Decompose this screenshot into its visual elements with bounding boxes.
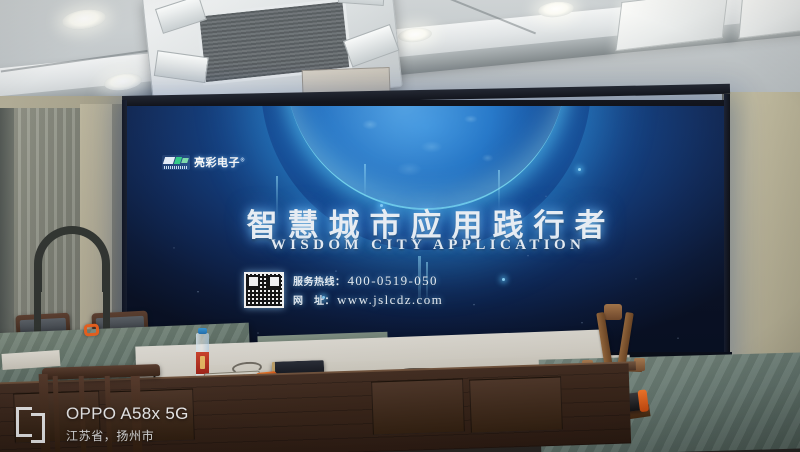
screen-headline-en: WISDOM CITY APPLICATION (126, 237, 726, 254)
downlight-icon (61, 7, 107, 32)
photo-canvas: 亮彩电子® 智慧城市应用践行者 WISDOM CITY APPLICATION … (0, 0, 800, 452)
brand-name: 亮彩电子® (194, 154, 246, 170)
hotline-label: 服务热线： (293, 276, 346, 291)
arch-back-chair (34, 226, 110, 292)
bottle-cap (198, 328, 207, 334)
glow-dot (578, 168, 581, 171)
chair-top-rail (42, 364, 160, 380)
watermark-text: OPPO A58x 5G 江苏省，扬州市 (66, 404, 189, 444)
cabinet-panel (371, 378, 465, 435)
glow-dot (502, 278, 505, 281)
hotline-value: 400-0519-050 (348, 272, 438, 291)
brand-name-text: 亮彩电子 (194, 156, 240, 169)
trademark-symbol: ® (240, 157, 246, 163)
camera-watermark: OPPO A58x 5G 江苏省，扬州市 (16, 404, 189, 444)
liangcai-logo-mark-icon (162, 155, 190, 170)
watermark-location: 江苏省，扬州市 (66, 427, 189, 444)
easel-top-joint (604, 304, 622, 320)
hotline-row: 服务热线： 400-0519-050 (293, 272, 443, 291)
water-bottle (196, 328, 209, 378)
screen-brand-logo: 亮彩电子® (162, 154, 246, 170)
bottle-body (196, 333, 209, 378)
orange-clip (84, 323, 100, 336)
watermark-device-model: OPPO A58x 5G (66, 404, 189, 424)
cabinet-panel (469, 376, 563, 433)
oppo-ai-watermark-logo-icon (16, 405, 52, 443)
light-ray (364, 164, 366, 198)
bottle-label (196, 352, 209, 374)
